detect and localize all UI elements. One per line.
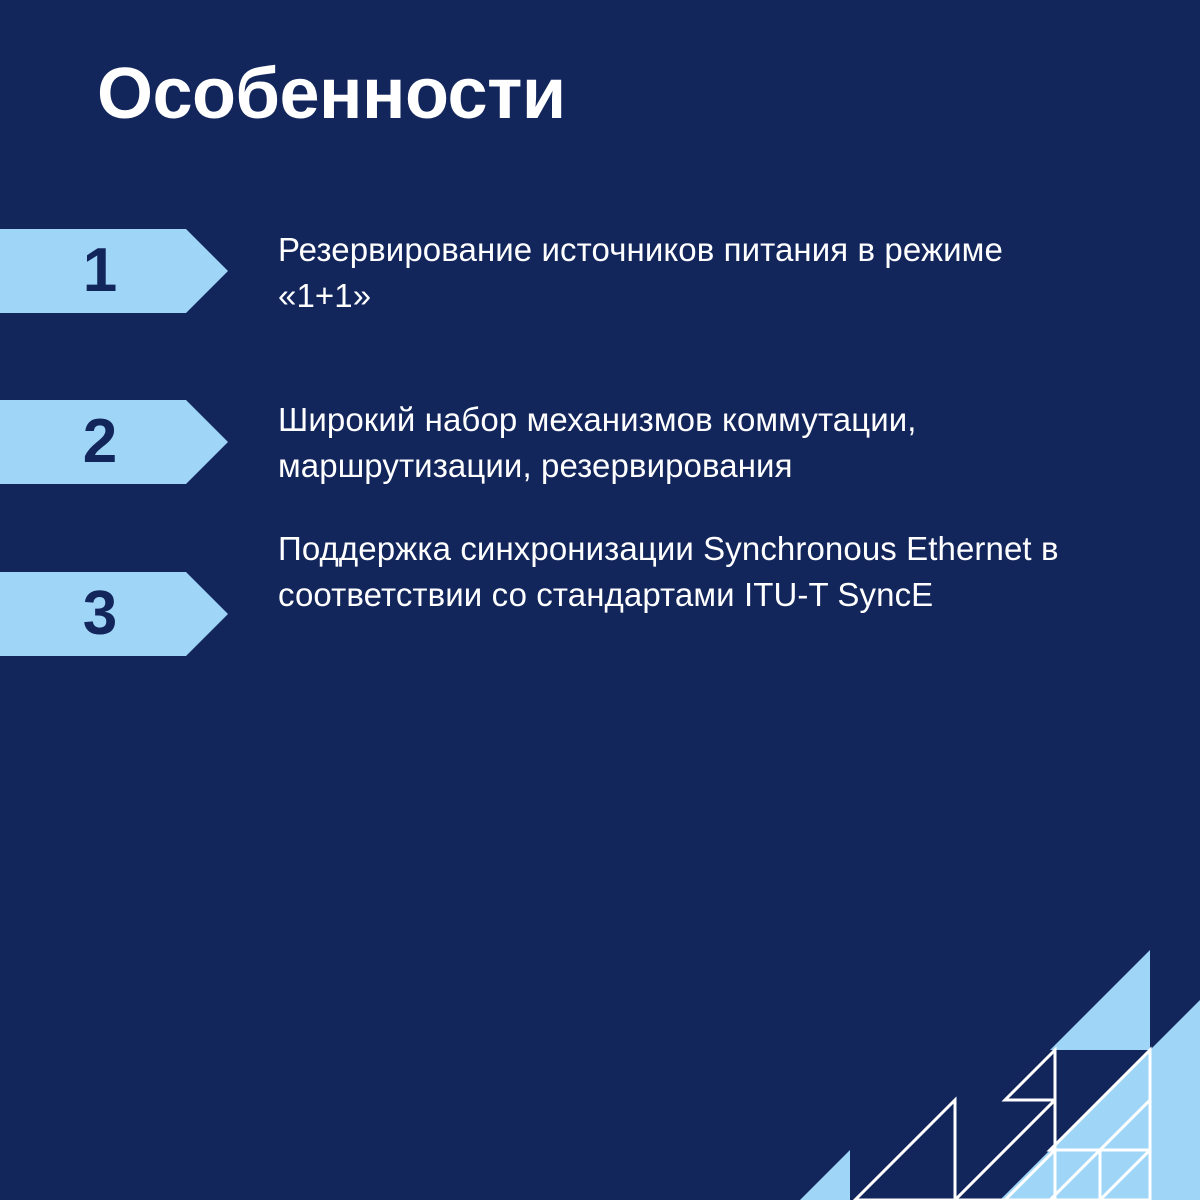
feature-number-1: 1 [0,229,186,313]
feature-text-1: Резервирование источников питания в режи… [278,227,1068,319]
feature-text-3: Поддержка синхронизации Synchronous Ethe… [278,526,1068,618]
feature-number-3: 3 [0,572,186,656]
feature-badge-2: 2 [0,400,228,484]
slide-canvas: Особенности 1 Резервирование источников … [0,0,1200,1200]
feature-text-2: Широкий набор механизмов коммутации, мар… [278,397,1068,489]
feature-list: 1 Резервирование источников питания в ре… [0,0,1200,1200]
feature-badge-1: 1 [0,229,228,313]
feature-number-2: 2 [0,400,186,484]
feature-badge-3: 3 [0,572,228,656]
